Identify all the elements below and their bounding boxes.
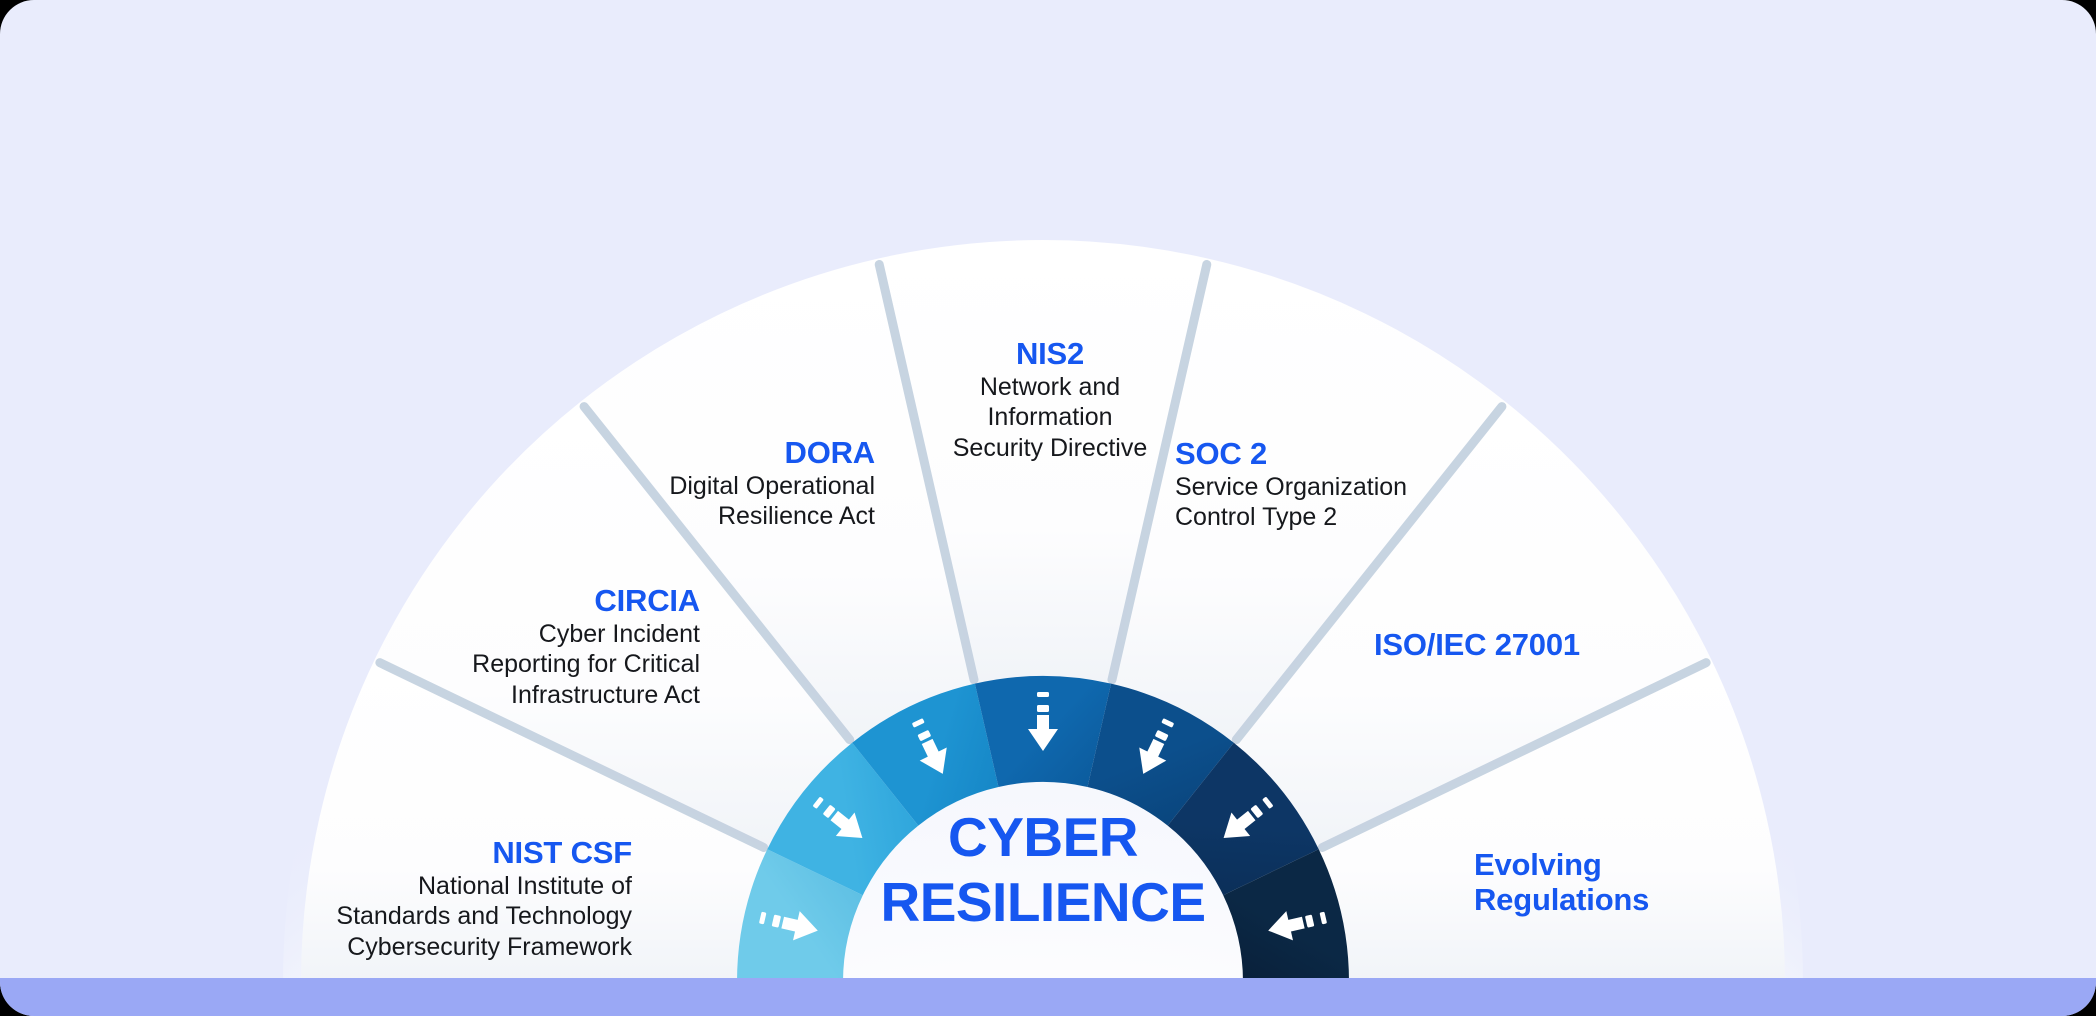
label-title: DORA (590, 436, 875, 471)
center-label-line1: CYBER (743, 805, 1343, 870)
label-title: NIS2 (900, 337, 1200, 372)
label-title: NIST CSF (300, 836, 632, 871)
label-title: SOC 2 (1175, 437, 1495, 472)
center-label-line2: RESILIENCE (743, 870, 1343, 935)
label-subtitle: National Institute of Standards and Tech… (300, 871, 632, 963)
label-title: Evolving Regulations (1474, 848, 1804, 917)
label-dora[interactable]: DORA Digital Operational Resilience Act (590, 436, 875, 532)
label-title: CIRCIA (420, 584, 700, 619)
diagram-page: CYBER RESILIENCE NIST CSF National Insti… (0, 0, 2096, 1016)
label-subtitle: Network and Information Security Directi… (900, 372, 1200, 464)
label-nis2[interactable]: NIS2 Network and Information Security Di… (900, 337, 1200, 463)
diagram-stage: CYBER RESILIENCE NIST CSF National Insti… (0, 0, 2096, 1016)
center-label: CYBER RESILIENCE (743, 805, 1343, 935)
label-soc-2[interactable]: SOC 2 Service Organization Control Type … (1175, 437, 1495, 533)
base-bar (0, 978, 2096, 1016)
label-subtitle: Service Organization Control Type 2 (1175, 472, 1495, 533)
label-evolving-regulations[interactable]: Evolving Regulations (1474, 848, 1804, 917)
label-subtitle: Digital Operational Resilience Act (590, 471, 875, 532)
label-iso-iec-27001[interactable]: ISO/IEC 27001 (1374, 628, 1714, 663)
label-circia[interactable]: CIRCIA Cyber Incident Reporting for Crit… (420, 584, 700, 710)
label-subtitle: Cyber Incident Reporting for Critical In… (420, 619, 700, 711)
label-title: ISO/IEC 27001 (1374, 628, 1714, 663)
label-nist-csf[interactable]: NIST CSF National Institute of Standards… (300, 836, 632, 962)
